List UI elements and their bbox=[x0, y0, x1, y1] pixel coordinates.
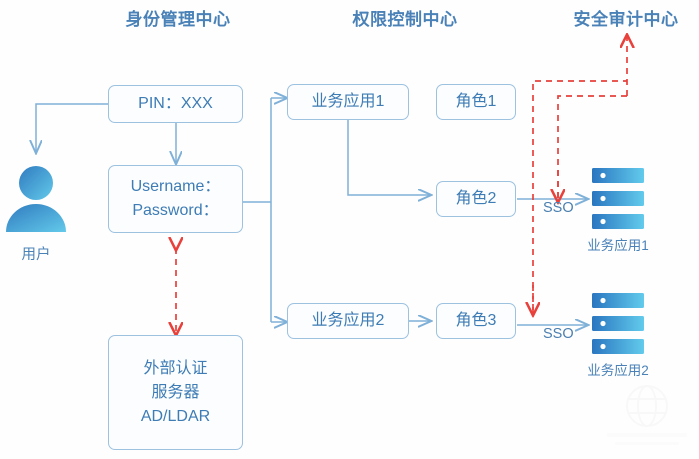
role-2-box[interactable]: 角色2 bbox=[436, 181, 516, 217]
role-2-label: 角色2 bbox=[456, 187, 497, 211]
credentials-password-label: Password： bbox=[132, 199, 218, 223]
role-1-label: 角色1 bbox=[456, 90, 497, 114]
server-stack-icon-1 bbox=[592, 168, 644, 229]
business-app-2-label: 业务应用2 bbox=[312, 309, 385, 333]
business-app-1-box[interactable]: 业务应用1 bbox=[287, 84, 409, 120]
role-3-label: 角色3 bbox=[456, 309, 497, 333]
user-avatar-icon bbox=[6, 166, 66, 232]
external-auth-box[interactable]: 外部认证 服务器 AD/LDAR bbox=[108, 335, 243, 450]
user-label: 用户 bbox=[6, 243, 66, 264]
title-identity-management-center: 身份管理中心 bbox=[103, 5, 253, 30]
server-business-app-1-label: 业务应用1 bbox=[578, 234, 658, 254]
business-app-1-label: 业务应用1 bbox=[312, 90, 385, 114]
diagram-canvas: 身份管理中心 权限控制中心 安全审计中心 用户 PIN：XXX Username… bbox=[0, 0, 699, 459]
title-security-audit-center: 安全审计中心 bbox=[553, 5, 699, 30]
role-3-box[interactable]: 角色3 bbox=[436, 303, 516, 339]
external-auth-line-1: 外部认证 bbox=[143, 357, 207, 381]
title-permission-control-center: 权限控制中心 bbox=[330, 5, 480, 30]
watermark-logo bbox=[601, 381, 693, 453]
credentials-username-label: Username： bbox=[131, 175, 221, 199]
sso-label-1: SSO bbox=[543, 200, 574, 216]
external-auth-line-2: 服务器 bbox=[151, 381, 199, 405]
pin-box-line-1: PIN：XXX bbox=[138, 92, 213, 116]
sso-label-2: SSO bbox=[543, 326, 574, 342]
external-auth-line-3: AD/LDAR bbox=[141, 405, 210, 429]
connector-layer bbox=[0, 0, 699, 459]
business-app-2-box[interactable]: 业务应用2 bbox=[287, 303, 409, 339]
pin-box[interactable]: PIN：XXX bbox=[108, 85, 243, 123]
credentials-box[interactable]: Username： Password： bbox=[108, 165, 243, 233]
role-1-box[interactable]: 角色1 bbox=[436, 84, 516, 120]
server-business-app-2-label: 业务应用2 bbox=[578, 359, 658, 379]
server-stack-icon-2 bbox=[592, 293, 644, 354]
